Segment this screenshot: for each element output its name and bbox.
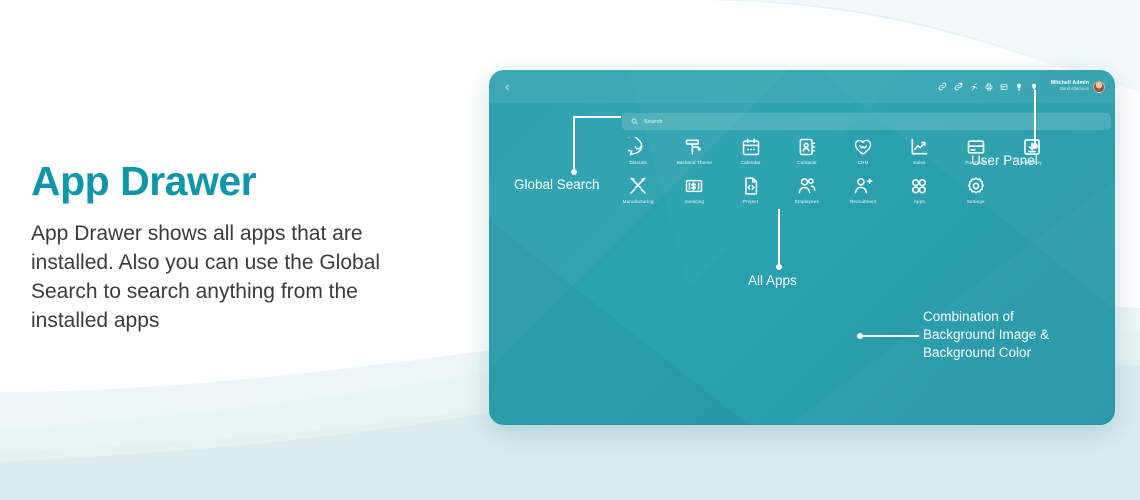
app-grid: Discuss Backend Theme Calendar — [610, 137, 1060, 204]
contact-book-icon — [797, 137, 817, 157]
annotation-all-apps: All Apps — [748, 272, 797, 290]
global-search-dot — [571, 169, 577, 175]
app-item-crm[interactable]: CRM — [835, 137, 891, 165]
app-label: Discuss — [630, 160, 647, 165]
print-icon[interactable] — [985, 83, 993, 91]
app-label: Sales — [913, 160, 925, 165]
all-apps-dot — [776, 264, 782, 270]
link-badge-icon[interactable] — [954, 82, 963, 91]
user-panel-dot — [1032, 143, 1038, 149]
global-search-leader-h — [573, 116, 621, 118]
app-label: Invoicing — [685, 199, 704, 204]
all-apps-leader — [778, 209, 780, 267]
app-item-employees[interactable]: Employees — [779, 176, 835, 204]
global-search-leader-v — [573, 116, 575, 172]
chevron-left-icon[interactable]: ‹ — [505, 80, 509, 93]
app-item-contacts[interactable]: Contacts — [779, 137, 835, 165]
app-label: Recruitment — [850, 199, 876, 204]
global-search-bar[interactable]: Search — [622, 113, 1111, 130]
user-plus-icon — [853, 176, 873, 196]
app-label: Backend Theme — [677, 160, 712, 165]
link-icon[interactable] — [938, 82, 947, 91]
app-label: Employees — [795, 199, 819, 204]
search-input-placeholder: Search — [644, 119, 663, 125]
apps-grid-icon — [909, 176, 929, 196]
user-panel-leader — [1034, 90, 1036, 146]
app-label: Settings — [967, 199, 985, 204]
app-item-apps[interactable]: Apps — [891, 176, 947, 204]
annotation-combination: Combination of Background Image & Backgr… — [923, 308, 1049, 361]
avatar[interactable] — [1093, 81, 1105, 93]
combination-dot — [857, 333, 863, 339]
copy-block: App Drawer App Drawer shows all apps tha… — [31, 160, 451, 336]
app-drawer-panel: ‹ — [489, 70, 1115, 425]
app-item-discuss[interactable]: Discuss — [610, 137, 666, 165]
app-label: Project — [743, 199, 758, 204]
paint-roller-icon — [684, 137, 704, 157]
annotation-user-panel: User Panel — [971, 152, 1038, 170]
app-item-invoicing[interactable]: Invoicing — [666, 176, 722, 204]
app-label: Contacts — [797, 160, 816, 165]
gear-icon — [966, 176, 986, 196]
chat-bubble-icon — [628, 137, 648, 157]
app-label: Apps — [914, 199, 925, 204]
bug-icon[interactable] — [970, 83, 978, 91]
app-item-backend-theme[interactable]: Backend Theme — [666, 137, 722, 165]
heart-handshake-icon — [853, 137, 873, 157]
systray: Mitchell Admin Good Afternoon — [938, 81, 1105, 93]
page-title: App Drawer — [31, 160, 451, 203]
lightbulb-icon[interactable] — [1015, 83, 1023, 91]
panel-topbar: ‹ — [489, 70, 1115, 103]
app-label: Calendar — [741, 160, 761, 165]
app-item-calendar[interactable]: Calendar — [723, 137, 779, 165]
user-text: Mitchell Admin Good Afternoon — [1051, 81, 1089, 92]
grid-icon[interactable] — [1000, 83, 1008, 91]
annotation-global-search: Global Search — [514, 176, 600, 194]
tools-icon — [628, 176, 648, 196]
search-icon — [631, 118, 638, 125]
app-label: Manufacturing — [623, 199, 654, 204]
calendar-icon — [741, 137, 761, 157]
combination-leader — [861, 335, 919, 337]
app-item-project[interactable]: Project — [723, 176, 779, 204]
code-file-icon — [741, 176, 761, 196]
money-bill-icon — [684, 176, 704, 196]
page-description: App Drawer shows all apps that are insta… — [31, 220, 401, 336]
app-item-manufacturing[interactable]: Manufacturing — [610, 176, 666, 204]
user-panel[interactable]: Mitchell Admin Good Afternoon — [1051, 81, 1105, 93]
line-chart-icon — [909, 137, 929, 157]
app-label: CRM — [858, 160, 869, 165]
app-item-settings[interactable]: Settings — [948, 176, 1004, 204]
app-item-sales[interactable]: Sales — [891, 137, 947, 165]
users-icon — [797, 176, 817, 196]
user-greeting: Good Afternoon — [1051, 87, 1089, 92]
app-item-recruitment[interactable]: Recruitment — [835, 176, 891, 204]
